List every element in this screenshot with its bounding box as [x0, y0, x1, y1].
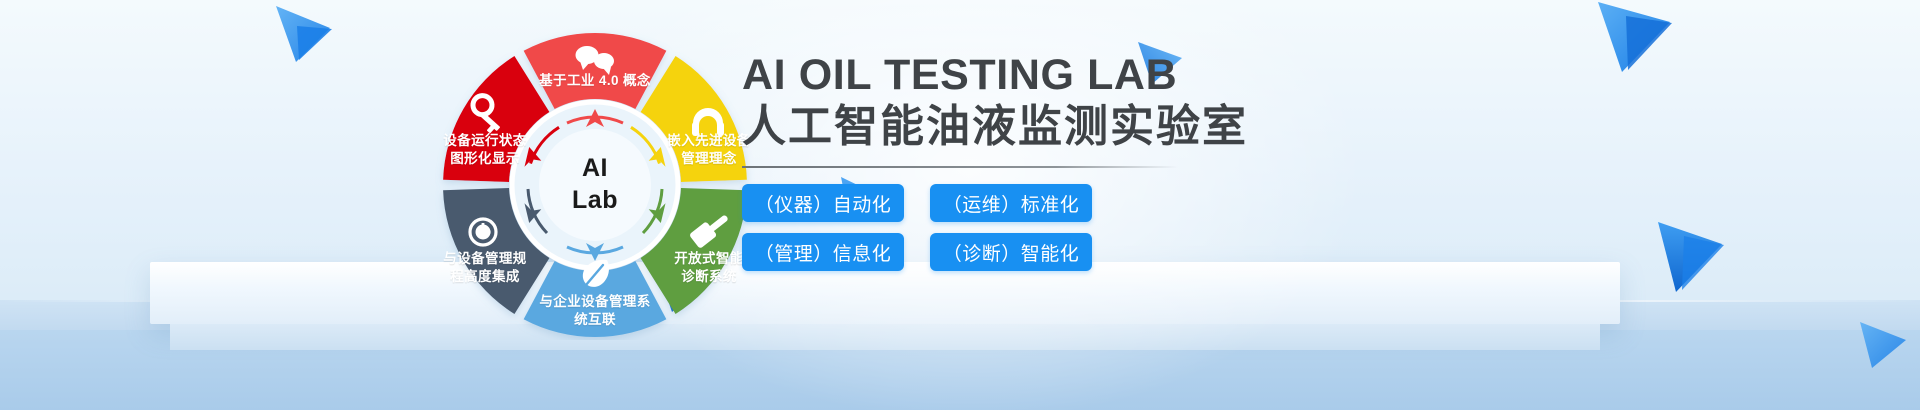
triangle-9: [1682, 236, 1724, 290]
segment-label-enterprise-interconnect: 与企业设备管理系 统互联: [505, 293, 685, 329]
segment-label-industry-4-0: 基于工业 4.0 概念: [495, 72, 695, 90]
ai-oil-testing-lab-banner: 基于工业 4.0 概念 嵌入先进设备 管理理念 开放式智能 诊断系统 与企业设备…: [0, 0, 1920, 410]
headline-block: AI OIL TESTING LAB 人工智能油液监测实验室 （仪器）自动化 （…: [742, 52, 1502, 271]
title-english: AI OIL TESTING LAB: [742, 52, 1502, 98]
triangle-1: [276, 6, 330, 62]
triangle-10: [1860, 322, 1906, 368]
segment-label-management-integration: 与设备管理规 程高度集成: [417, 250, 553, 286]
tag-management-informatization[interactable]: （管理）信息化: [742, 233, 904, 271]
triangle-6: [1598, 2, 1670, 72]
triangle-2: [297, 26, 332, 60]
triangle-8: [1658, 222, 1722, 292]
title-chinese: 人工智能油液监测实验室: [742, 101, 1502, 152]
triangle-7: [1626, 16, 1672, 70]
tag-diagnosis-intelligence[interactable]: （诊断）智能化: [930, 233, 1092, 271]
feature-tag-grid: （仪器）自动化 （运维）标准化 （管理）信息化 （诊断）智能化: [742, 184, 1502, 271]
tag-ops-standardization[interactable]: （运维）标准化: [930, 184, 1092, 222]
tag-instrument-automation[interactable]: （仪器）自动化: [742, 184, 904, 222]
title-divider: [742, 166, 1178, 168]
